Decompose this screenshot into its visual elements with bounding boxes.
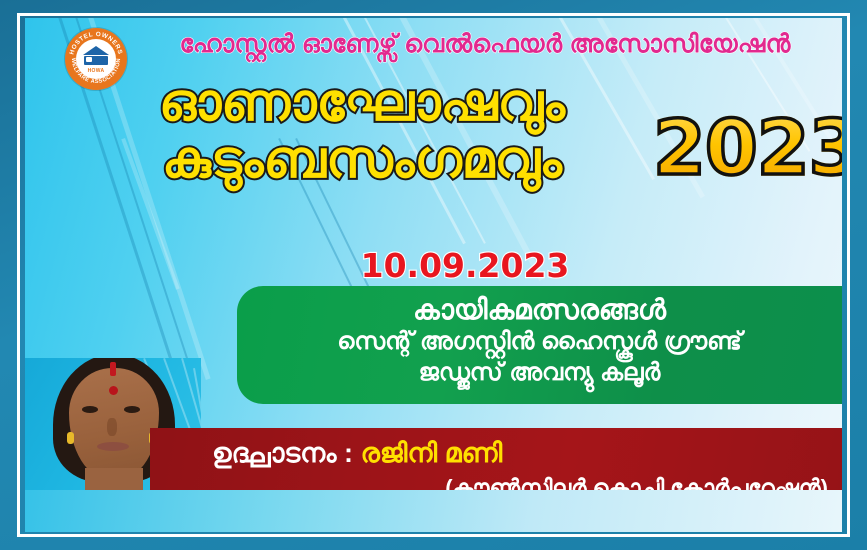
inauguration-line: ഉദ്ഘാടനം : രജിനി മണി <box>150 436 828 471</box>
poster-title: ഓണാഘോഷവും കുടുംബസംഗമവും <box>57 76 667 187</box>
venue-line-2: ജഡ്ജസ് അവന്യു കലൂർ <box>237 358 842 389</box>
inauguration-label: ഉദ്ഘാടനം : <box>212 438 361 468</box>
event-date: 10.09.2023 <box>265 246 665 285</box>
logo-acronym: HOWA <box>76 68 116 74</box>
title-line-1: ഓണാഘോഷവും <box>57 76 667 131</box>
chief-guest-name: രജിനി മണി <box>361 438 503 468</box>
sports-heading: കായികമത്സരങ്ങൾ <box>237 292 842 327</box>
event-poster: HOSTEL OWNERS WELFARE ASSOCIATION HOWA ഹ… <box>0 0 867 550</box>
logo-house-bed-icon: HOWA <box>76 39 116 79</box>
event-year: 2023 <box>653 110 842 186</box>
bottom-accent-strip <box>25 490 842 532</box>
sports-events-panel: കായികമത്സരങ്ങൾ സെന്റ് അഗസ്റ്റിൻ ഹൈസ്കൂൾ … <box>237 286 842 404</box>
title-line-2: കുടുംബസംഗമവും <box>57 133 667 188</box>
venue-line-1: സെന്റ് അഗസ്റ്റിൻ ഹൈസ്കൂൾ ഗ്രൗണ്ട് <box>237 327 842 358</box>
poster-canvas: HOSTEL OWNERS WELFARE ASSOCIATION HOWA ഹ… <box>25 18 842 532</box>
association-name: ഹോസ്റ്റൽ ഓണേഴ്സ് വെൽഫെയർ അസോസിയേഷൻ <box>135 32 835 57</box>
